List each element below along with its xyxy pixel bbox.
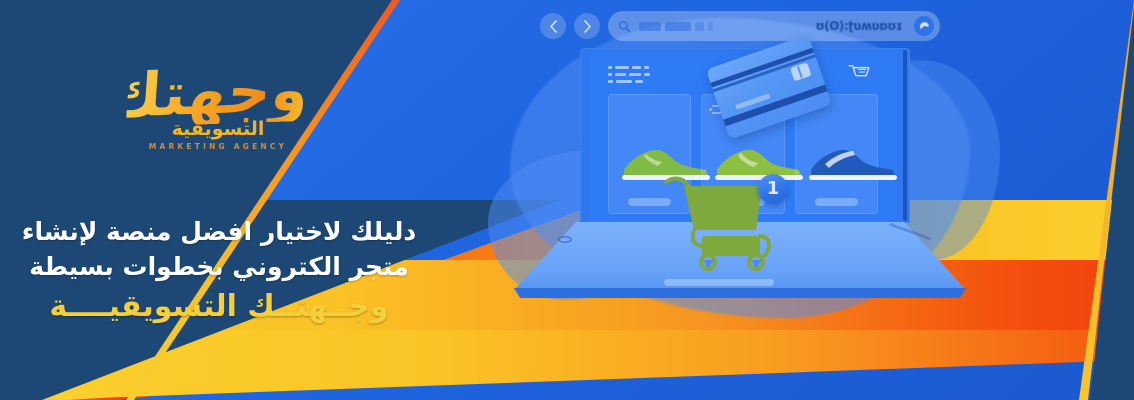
laptop-lip <box>514 288 966 298</box>
shopping-cart-graphic: 1 <box>660 168 790 278</box>
refresh-icon[interactable] <box>914 16 934 36</box>
address-bar-brand: ʊ(ʘ):ʈʋʍʋɒʊɪ <box>815 19 902 33</box>
screen-edge <box>903 50 907 221</box>
headline-block: دليلك لاختيار افضل منصة لإنشاء متجر الكت… <box>0 214 420 330</box>
chip-icon <box>790 62 812 81</box>
hinge-left <box>558 236 572 243</box>
back-button[interactable] <box>540 13 566 39</box>
chevron-left-icon <box>549 20 558 33</box>
search-icon <box>618 20 631 33</box>
brand-logo: وجهتك التسويقية MARKETING AGENCY <box>128 62 308 172</box>
add-to-cart-button[interactable] <box>815 198 858 206</box>
marketing-banner: ʊ(ʘ):ʈʋʍʋɒʊɪ <box>0 0 1134 400</box>
headline-line-2: متجر الكتروني بخطوات بسيطة <box>18 249 420 284</box>
address-bar[interactable]: ʊ(ʘ):ʈʋʍʋɒʊɪ <box>608 11 940 41</box>
logo-latin-text: MARKETING AGENCY <box>128 142 308 151</box>
address-bar-text <box>639 22 713 31</box>
headline-accent: وجــهتــك التسويقيــــة <box>18 284 420 330</box>
headline-line-1: دليلك لاختيار افضل منصة لإنشاء <box>18 214 420 249</box>
chevron-right-icon <box>583 20 592 33</box>
cart-icon[interactable] <box>848 64 870 82</box>
browser-toolbar: ʊ(ʘ):ʈʋʍʋɒʊɪ <box>540 6 940 46</box>
logo-script-text: وجهتك <box>126 59 311 127</box>
ecommerce-illustration: ʊ(ʘ):ʈʋʍʋɒʊɪ <box>470 0 1010 340</box>
sneaker-blue-3 <box>803 138 903 184</box>
left-content-panel: وجهتك التسويقية MARKETING AGENCY دليلك ل… <box>0 0 430 400</box>
cart-badge: 1 <box>758 174 788 204</box>
trackpad <box>664 279 774 286</box>
store-menu-placeholder <box>608 66 650 83</box>
forward-button[interactable] <box>574 13 600 39</box>
